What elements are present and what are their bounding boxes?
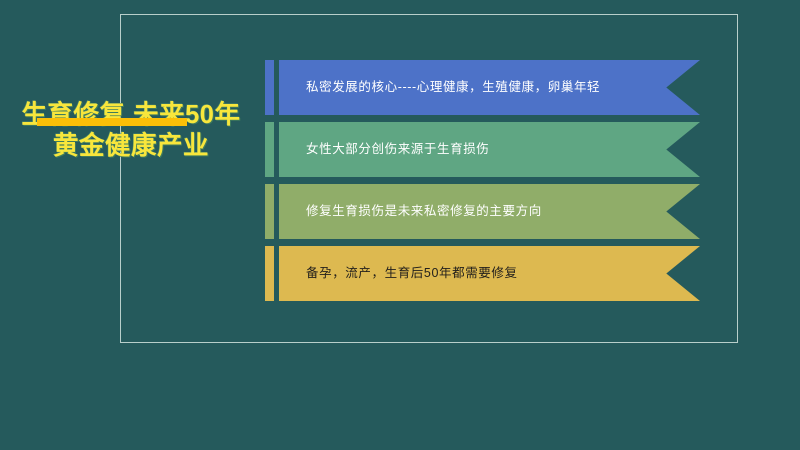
- slide-canvas: 生育修复 未来50年黄金健康产业 私密发展的核心----心理健康，生殖健康，卵巢…: [0, 0, 800, 450]
- list-item[interactable]: 女性大部分创伤来源于生育损伤: [265, 122, 705, 177]
- banner-list: 私密发展的核心----心理健康，生殖健康，卵巢年轻 女性大部分创伤来源于生育损伤…: [265, 60, 705, 308]
- banner-label: 女性大部分创伤来源于生育损伤: [306, 141, 489, 158]
- page-title: 生育修复 未来50年黄金健康产业: [18, 100, 244, 162]
- banner-label: 私密发展的核心----心理健康，生殖健康，卵巢年轻: [306, 79, 600, 96]
- list-item[interactable]: 备孕，流产，生育后50年都需要修复: [265, 246, 705, 301]
- banner-accent-bar: [265, 184, 274, 239]
- banner-accent-bar: [265, 246, 274, 301]
- banner-label: 修复生育损伤是未来私密修复的主要方向: [306, 203, 542, 220]
- title-block: 生育修复 未来50年黄金健康产业: [18, 100, 244, 162]
- title-underline-bar: [37, 118, 187, 126]
- banner-body[interactable]: 女性大部分创伤来源于生育损伤: [279, 122, 700, 177]
- banner-body[interactable]: 备孕，流产，生育后50年都需要修复: [279, 246, 700, 301]
- banner-label: 备孕，流产，生育后50年都需要修复: [306, 265, 518, 282]
- banner-accent-bar: [265, 60, 274, 115]
- banner-body[interactable]: 私密发展的核心----心理健康，生殖健康，卵巢年轻: [279, 60, 700, 115]
- list-item[interactable]: 修复生育损伤是未来私密修复的主要方向: [265, 184, 705, 239]
- banner-body[interactable]: 修复生育损伤是未来私密修复的主要方向: [279, 184, 700, 239]
- list-item[interactable]: 私密发展的核心----心理健康，生殖健康，卵巢年轻: [265, 60, 705, 115]
- banner-accent-bar: [265, 122, 274, 177]
